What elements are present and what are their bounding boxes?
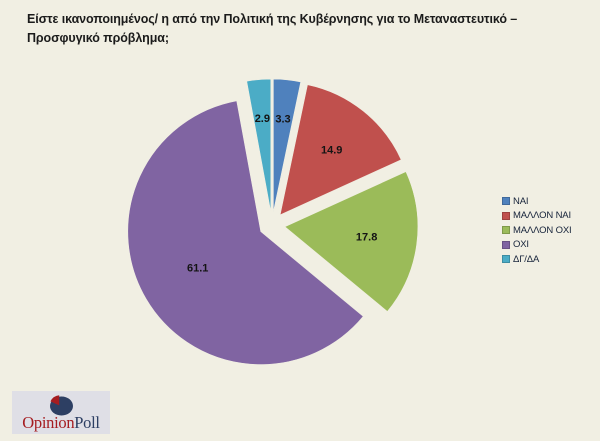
legend-item[interactable]: ΔΓ/ΔΑ	[502, 252, 597, 267]
logo-word-poll: Poll	[74, 413, 99, 432]
page-title: Είστε ικανοποιημένος/ η από την Πολιτική…	[27, 10, 572, 49]
legend-item[interactable]: ΟΧΙ	[502, 238, 597, 253]
legend-item[interactable]: ΜΑΛΛΟΝ ΟΧΙ	[502, 223, 597, 238]
pie-slice-label: 17.8	[356, 231, 377, 243]
legend-item[interactable]: ΝΑΙ	[502, 194, 597, 209]
chart-legend: ΝΑΙΜΑΛΛΟΝ ΝΑΙΜΑΛΛΟΝ ΟΧΙΟΧΙΔΓ/ΔΑ	[502, 194, 597, 267]
pie-slice-label: 2.9	[255, 113, 270, 125]
legend-item-label: ΜΑΛΛΟΝ ΝΑΙ	[513, 210, 571, 221]
legend-swatch-icon	[502, 241, 510, 249]
pie-slice-label: 3.3	[275, 113, 290, 125]
pie-slice-label: 61.1	[187, 263, 208, 275]
logo-word-opinion: Opinion	[22, 413, 74, 432]
legend-swatch-icon	[502, 197, 510, 205]
legend-item-label: ΜΑΛΛΟΝ ΟΧΙ	[513, 225, 572, 236]
legend-swatch-icon	[502, 226, 510, 234]
pie-slice-layer	[128, 79, 418, 365]
pie-chart-plot-area: 3.314.917.861.12.9	[95, 62, 435, 382]
legend-swatch-icon	[502, 212, 510, 220]
legend-swatch-icon	[502, 255, 510, 263]
legend-item-label: ΔΓ/ΔΑ	[513, 254, 539, 265]
logo-wordmark: OpinionPoll	[12, 414, 110, 432]
opinionpoll-logo: OpinionPoll	[12, 391, 110, 434]
legend-item-label: ΟΧΙ	[513, 239, 529, 250]
legend-item[interactable]: ΜΑΛΛΟΝ ΝΑΙ	[502, 209, 597, 224]
legend-item-label: ΝΑΙ	[513, 196, 528, 207]
pie-slice-label: 14.9	[321, 144, 342, 156]
chart-container: Είστε ικανοποιημένος/ η από την Πολιτική…	[0, 0, 600, 441]
pie-chart-svg: 3.314.917.861.12.9	[95, 62, 435, 382]
